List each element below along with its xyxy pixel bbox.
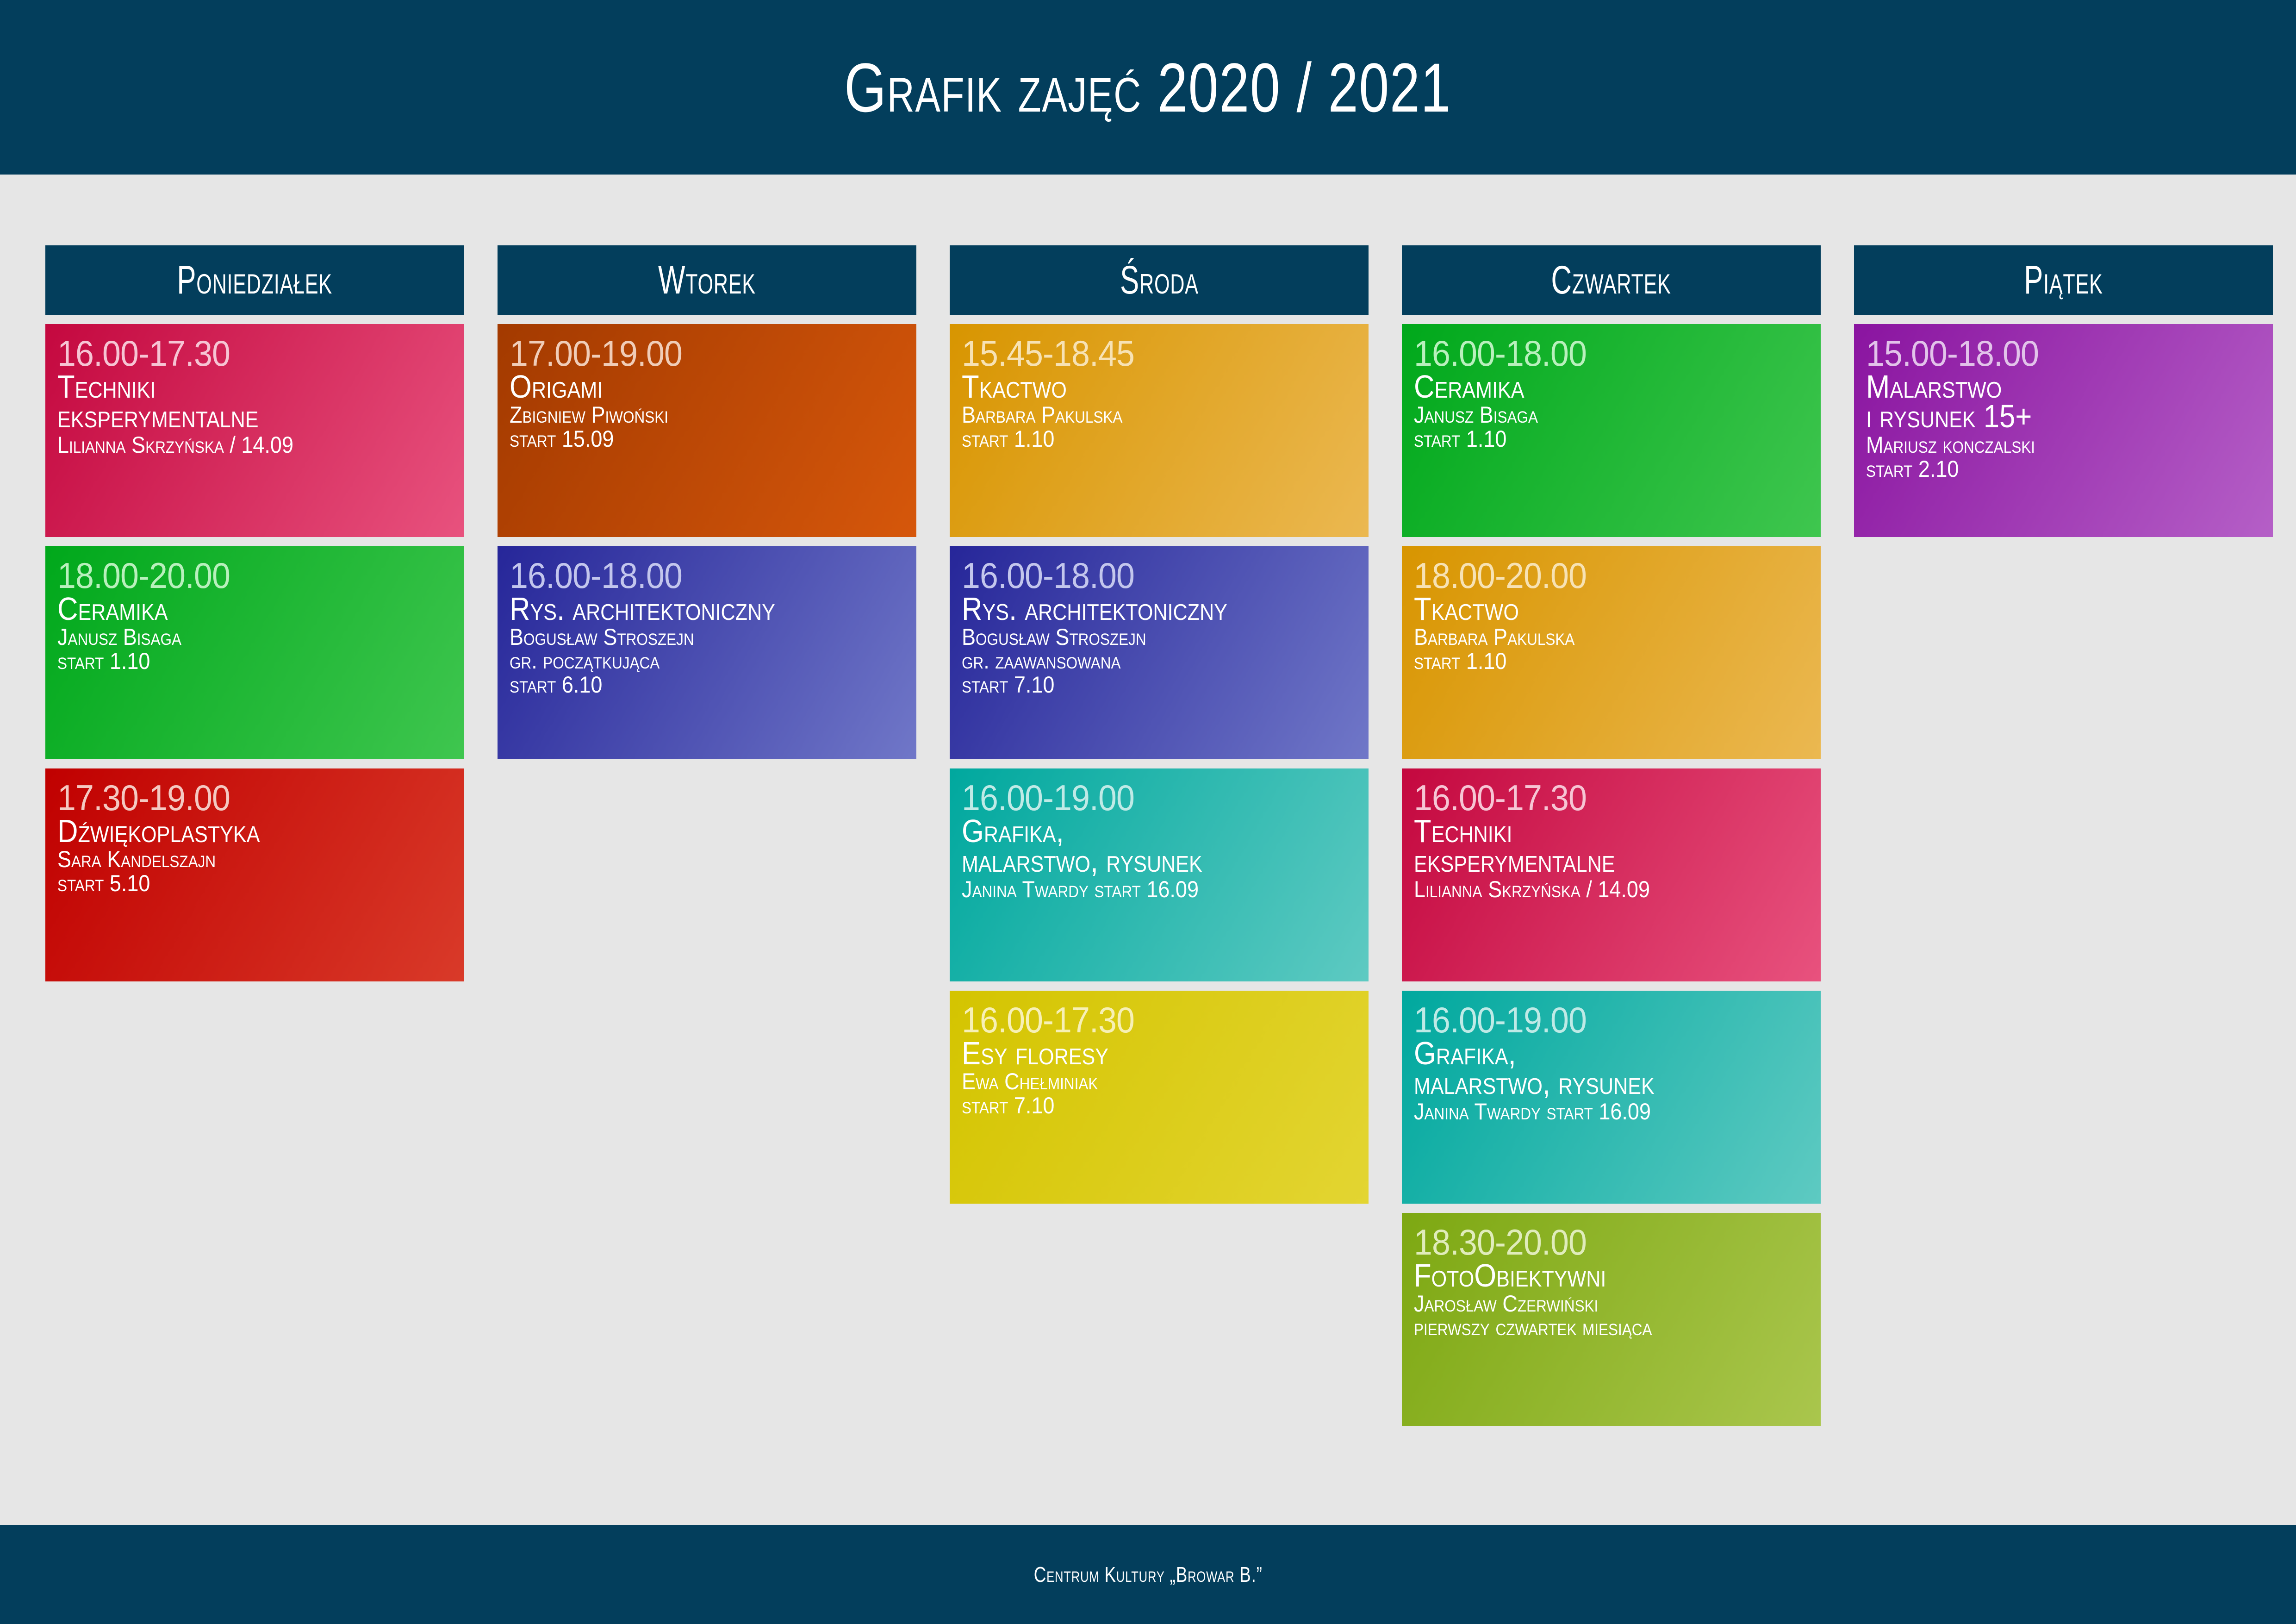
class-title: Techniki eksperymentalne	[57, 372, 405, 431]
class-start-date: start 2.10	[1866, 457, 2221, 481]
class-start-date: start 7.10	[962, 673, 1317, 697]
class-instructor: Jarosław Czerwiński	[1414, 1292, 1769, 1316]
class-start-date: start 1.10	[1414, 427, 1769, 451]
class-title: Rys. architektoniczny	[510, 594, 857, 624]
class-card[interactable]: 15.45-18.45TkactwoBarbara Pakulskastart …	[950, 324, 1369, 537]
class-title: Malarstwo i rysunek 15+	[1866, 372, 2214, 431]
class-title: Techniki eksperymentalne	[1414, 816, 1761, 876]
class-card[interactable]: 16.00-18.00Rys. architektonicznyBogusław…	[498, 546, 916, 759]
class-card[interactable]: 18.00-20.00TkactwoBarbara Pakulskastart …	[1402, 546, 1821, 759]
class-instructor: Barbara Pakulska	[1414, 625, 1769, 649]
class-title: Ceramika	[1414, 372, 1761, 401]
class-instructor: Zbigniew Piwoński	[510, 403, 865, 427]
day-column: Wtorek17.00-19.00OrigamiZbigniew Piwońsk…	[498, 245, 916, 1435]
class-time: 16.00-17.30	[962, 1003, 1325, 1037]
class-card[interactable]: 17.30-19.00DźwiękoplastykaSara Kandelsza…	[45, 768, 464, 981]
class-instructor: Janina Twardy start 16.09	[1414, 1100, 1769, 1124]
schedule-grid: Poniedziałek16.00-17.30Techniki eksperym…	[45, 245, 2260, 1435]
day-name: Piątek	[2024, 260, 2103, 300]
class-instructor: Janina Twardy start 16.09	[962, 878, 1317, 901]
class-time: 15.00-18.00	[1866, 336, 2229, 371]
class-time: 16.00-19.00	[1414, 1003, 1777, 1037]
class-instructor: Barbara Pakulska	[962, 403, 1317, 427]
class-start-date: start 1.10	[962, 427, 1317, 451]
class-title: Grafika, malarstwo, rysunek	[962, 816, 1309, 876]
class-card[interactable]: 16.00-19.00Grafika, malarstwo, rysunekJa…	[950, 768, 1369, 981]
class-time: 16.00-18.00	[1414, 336, 1777, 371]
class-instructor: Lilianna Skrzyńska / 14.09	[1414, 878, 1769, 901]
schedule-poster: Grafik zajęć 2020 / 2021 Poniedziałek16.…	[0, 0, 2296, 1624]
class-instructor: Lilianna Skrzyńska / 14.09	[57, 433, 413, 457]
class-time: 16.00-17.30	[1414, 781, 1777, 815]
class-card[interactable]: 16.00-19.00Grafika, malarstwo, rysunekJa…	[1402, 991, 1821, 1204]
class-title: Grafika, malarstwo, rysunek	[1414, 1038, 1761, 1098]
class-start-date: start 1.10	[1414, 649, 1769, 673]
class-start-date: start 15.09	[510, 427, 865, 451]
class-title: Tkactwo	[962, 372, 1309, 401]
day-name: Czwartek	[1551, 260, 1671, 300]
class-title: Ceramika	[57, 594, 405, 624]
class-card[interactable]: 16.00-18.00Rys. architektonicznyBogusław…	[950, 546, 1369, 759]
day-header-2: Wtorek	[498, 245, 916, 315]
class-card[interactable]: 16.00-17.30Esy floresyEwa Chełminiakstar…	[950, 991, 1369, 1204]
class-title: Dźwiękoplastyka	[57, 816, 405, 846]
class-time: 16.00-18.00	[510, 558, 873, 593]
day-header-4: Czwartek	[1402, 245, 1821, 315]
class-start-date: start 7.10	[962, 1093, 1317, 1118]
class-instructor: Ewa Chełminiak	[962, 1070, 1317, 1093]
class-instructor: Janusz Bisaga	[1414, 403, 1769, 427]
day-header-5: Piątek	[1854, 245, 2273, 315]
class-title: Origami	[510, 372, 857, 401]
class-time: 17.30-19.00	[57, 781, 421, 815]
class-title: Rys. architektoniczny	[962, 594, 1309, 624]
class-time: 15.45-18.45	[962, 336, 1325, 371]
class-instructor: Sara Kandelszajn	[57, 848, 413, 871]
class-start-date: start 5.10	[57, 871, 413, 895]
class-title: Esy floresy	[962, 1038, 1309, 1068]
day-header-1: Poniedziałek	[45, 245, 464, 315]
footer-organization-name: Centrum Kultury „Browar B.”	[1034, 1562, 1263, 1587]
day-column: Piątek15.00-18.00Malarstwo i rysunek 15+…	[1854, 245, 2273, 1435]
class-title: FotoObiektywni	[1414, 1261, 1761, 1290]
day-column: Środa15.45-18.45TkactwoBarbara Pakulskas…	[950, 245, 1369, 1435]
day-name: Wtorek	[658, 260, 756, 300]
class-time: 17.00-19.00	[510, 336, 873, 371]
class-card[interactable]: 18.00-20.00CeramikaJanusz Bisagastart 1.…	[45, 546, 464, 759]
class-time: 16.00-18.00	[962, 558, 1325, 593]
class-note: gr. początkująca	[510, 649, 865, 673]
day-column: Czwartek16.00-18.00CeramikaJanusz Bisaga…	[1402, 245, 1821, 1435]
day-name: Środa	[1120, 260, 1199, 300]
day-header-3: Środa	[950, 245, 1369, 315]
class-instructor: Bogusław Stroszejn	[510, 625, 865, 649]
day-column: Poniedziałek16.00-17.30Techniki eksperym…	[45, 245, 464, 1435]
class-note: pierwszy czwartek miesiąca	[1414, 1316, 1769, 1339]
class-card[interactable]: 16.00-18.00CeramikaJanusz Bisagastart 1.…	[1402, 324, 1821, 537]
class-instructor: Mariusz konczalski	[1866, 433, 2221, 457]
class-note: gr. zaawansowana	[962, 649, 1317, 673]
class-time: 18.00-20.00	[1414, 558, 1777, 593]
class-start-date: start 6.10	[510, 673, 865, 697]
day-name: Poniedziałek	[177, 260, 333, 300]
class-card[interactable]: 16.00-17.30Techniki eksperymentalneLilia…	[1402, 768, 1821, 981]
class-start-date: start 1.10	[57, 649, 413, 673]
class-instructor: Janusz Bisaga	[57, 625, 413, 649]
class-time: 16.00-17.30	[57, 336, 421, 371]
page-title: Grafik zajęć 2020 / 2021	[844, 53, 1451, 122]
footer-band: Centrum Kultury „Browar B.”	[0, 1525, 2296, 1624]
class-time: 18.30-20.00	[1414, 1225, 1777, 1260]
class-title: Tkactwo	[1414, 594, 1761, 624]
class-time: 16.00-19.00	[962, 781, 1325, 815]
class-instructor: Bogusław Stroszejn	[962, 625, 1317, 649]
class-card[interactable]: 18.30-20.00FotoObiektywniJarosław Czerwi…	[1402, 1213, 1821, 1426]
header-band: Grafik zajęć 2020 / 2021	[0, 0, 2296, 175]
class-card[interactable]: 15.00-18.00Malarstwo i rysunek 15+Marius…	[1854, 324, 2273, 537]
class-card[interactable]: 16.00-17.30Techniki eksperymentalneLilia…	[45, 324, 464, 537]
class-card[interactable]: 17.00-19.00OrigamiZbigniew Piwońskistart…	[498, 324, 916, 537]
class-time: 18.00-20.00	[57, 558, 421, 593]
